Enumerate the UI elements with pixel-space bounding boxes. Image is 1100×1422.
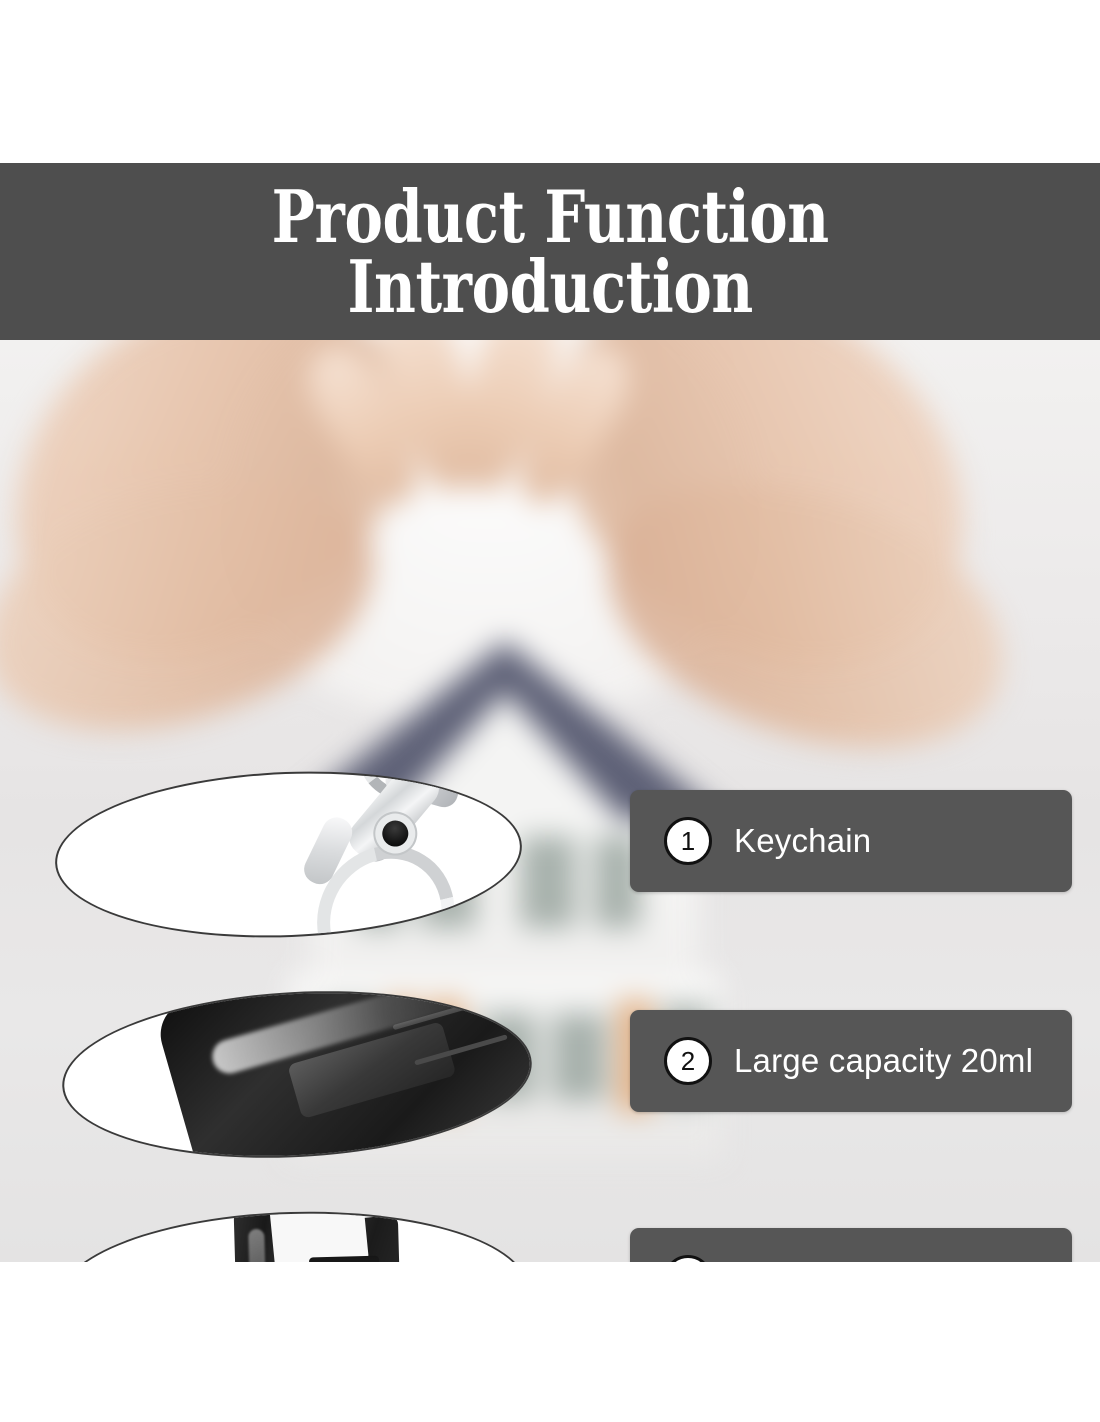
feature-label-text-2: Large capacity 20ml xyxy=(734,1044,1033,1079)
feature-label-3: 3 Press type nozzle xyxy=(630,1228,1072,1262)
house-window xyxy=(552,1014,606,1100)
page-title-line-2: Introduction xyxy=(271,252,828,322)
header-banner: Product Function Introduction xyxy=(0,163,1100,340)
feature-label-1: 1 Keychain xyxy=(630,790,1072,892)
feature-label-2: 2 Large capacity 20ml xyxy=(630,1010,1072,1112)
keychain-clasp-icon xyxy=(258,763,525,946)
feature-number-badge-2: 2 xyxy=(664,1037,712,1085)
nozzle-notch xyxy=(270,1205,369,1262)
bottom-white-margin xyxy=(0,1262,1100,1422)
infographic-page: Product Function Introduction xyxy=(0,0,1100,1422)
page-title: Product Function Introduction xyxy=(271,182,828,322)
feature-number-badge-3: 3 xyxy=(664,1255,712,1262)
product-scene: 1 Keychain 2 Large capacity 20ml 3 Press… xyxy=(0,340,1100,1262)
keychain-photo xyxy=(54,765,523,944)
callout-oval-keychain xyxy=(52,763,525,946)
feature-label-text-1: Keychain xyxy=(734,824,871,859)
bottle-body-photo xyxy=(60,982,534,1167)
feature-number-badge-1: 1 xyxy=(664,817,712,865)
callout-oval-capacity xyxy=(58,980,536,1169)
house-window xyxy=(520,836,576,928)
